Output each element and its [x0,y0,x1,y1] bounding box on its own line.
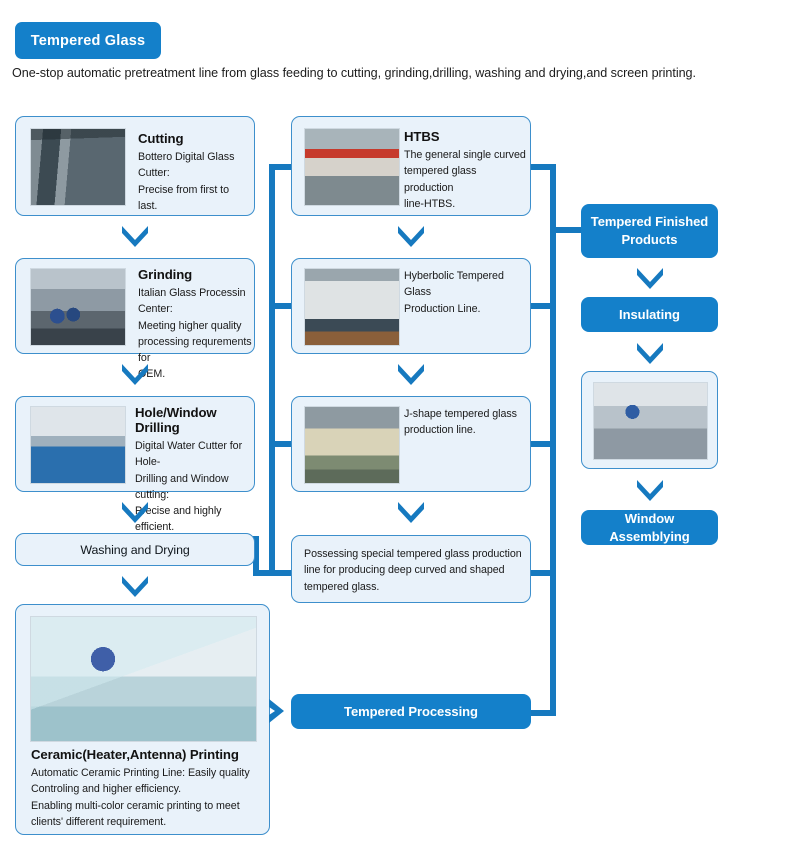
chevron-down-icon [635,477,665,503]
card-deep-curved-desc: Possessing special tempered glass produc… [304,546,522,595]
chevron-down-icon [120,361,150,387]
box-window-assemblying[interactable]: Window Assemblying [581,510,718,545]
box-tempered-finished-products[interactable]: Tempered Finished Products [581,204,718,258]
card-drilling-desc: Digital Water Cutter for Hole- Drilling … [135,438,260,536]
box-insulating[interactable]: Insulating [581,297,718,332]
card-grinding-title: Grinding [138,267,258,282]
chevron-down-icon [635,340,665,366]
card-j-shape-desc: J-shape tempered glass production line. [404,406,529,439]
hyperbolic-photo [304,268,400,346]
card-ceramic-desc: Automatic Ceramic Printing Line: Easily … [31,765,261,830]
card-window-assembly[interactable] [581,371,718,469]
connector-middle-left-stub-2 [269,303,291,309]
card-j-shape[interactable]: J-shape tempered glass production line. [291,396,531,492]
card-cutting[interactable]: Cutting Bottero Digital Glass Cutter: Pr… [15,116,255,216]
connector-middle-right-stub-2 [531,303,556,309]
card-htbs-desc: The general single curved tempered glass… [404,147,526,212]
card-drilling-title: Hole/Window Drilling [135,405,260,435]
box-washing-and-drying[interactable]: Washing and Drying [15,533,255,566]
card-ceramic-printing[interactable]: Ceramic(Heater,Antenna) Printing Automat… [15,604,270,835]
cutting-photo [30,128,126,206]
htbs-photo [304,128,400,206]
card-htbs-title: HTBS [404,129,526,144]
chevron-down-icon [396,223,426,249]
connector-middle-right-stub-3 [531,441,556,447]
card-grinding-desc: Italian Glass Processin Center: Meeting … [138,285,258,383]
chevron-down-icon [120,499,150,525]
card-ceramic-title: Ceramic(Heater,Antenna) Printing [31,747,261,762]
page-title-badge: Tempered Glass [15,22,161,59]
card-hyperbolic[interactable]: Hyberbolic Tempered Glass Production Lin… [291,258,531,354]
connector-middle-right-trunk [550,164,556,716]
card-cutting-title: Cutting [138,131,248,146]
chevron-down-icon [396,361,426,387]
connector-trunk-to-tempered-processing [528,710,556,716]
drilling-photo [30,406,126,484]
chevron-down-icon [120,223,150,249]
connector-middle-left-stub-1 [269,164,291,170]
card-hole-window-drilling[interactable]: Hole/Window Drilling Digital Water Cutte… [15,396,255,492]
j-shape-photo [304,406,400,484]
chevron-down-icon [635,265,665,291]
connector-middle-left-stub-3 [269,441,291,447]
card-cutting-desc: Bottero Digital Glass Cutter: Precise fr… [138,149,248,214]
chevron-right-icon [266,697,288,725]
connector-middle-right-stub-4 [531,570,556,576]
chevron-down-icon [120,573,150,599]
box-tempered-processing[interactable]: Tempered Processing [291,694,531,729]
card-htbs[interactable]: HTBS The general single curved tempered … [291,116,531,216]
card-grinding[interactable]: Grinding Italian Glass Processin Center:… [15,258,255,354]
window-assembly-photo [593,382,708,460]
connector-middle-left-trunk [269,164,275,576]
connector-middle-right-stub-1 [531,164,556,170]
card-deep-curved[interactable]: Possessing special tempered glass produc… [291,535,531,603]
page-subtitle: One-stop automatic pretreatment line fro… [12,66,696,80]
chevron-down-icon [396,499,426,525]
connector-trunk-to-finished-products [550,227,585,233]
ceramic-printing-photo [30,616,257,742]
card-hyperbolic-desc: Hyberbolic Tempered Glass Production Lin… [404,268,529,317]
grinding-photo [30,268,126,346]
